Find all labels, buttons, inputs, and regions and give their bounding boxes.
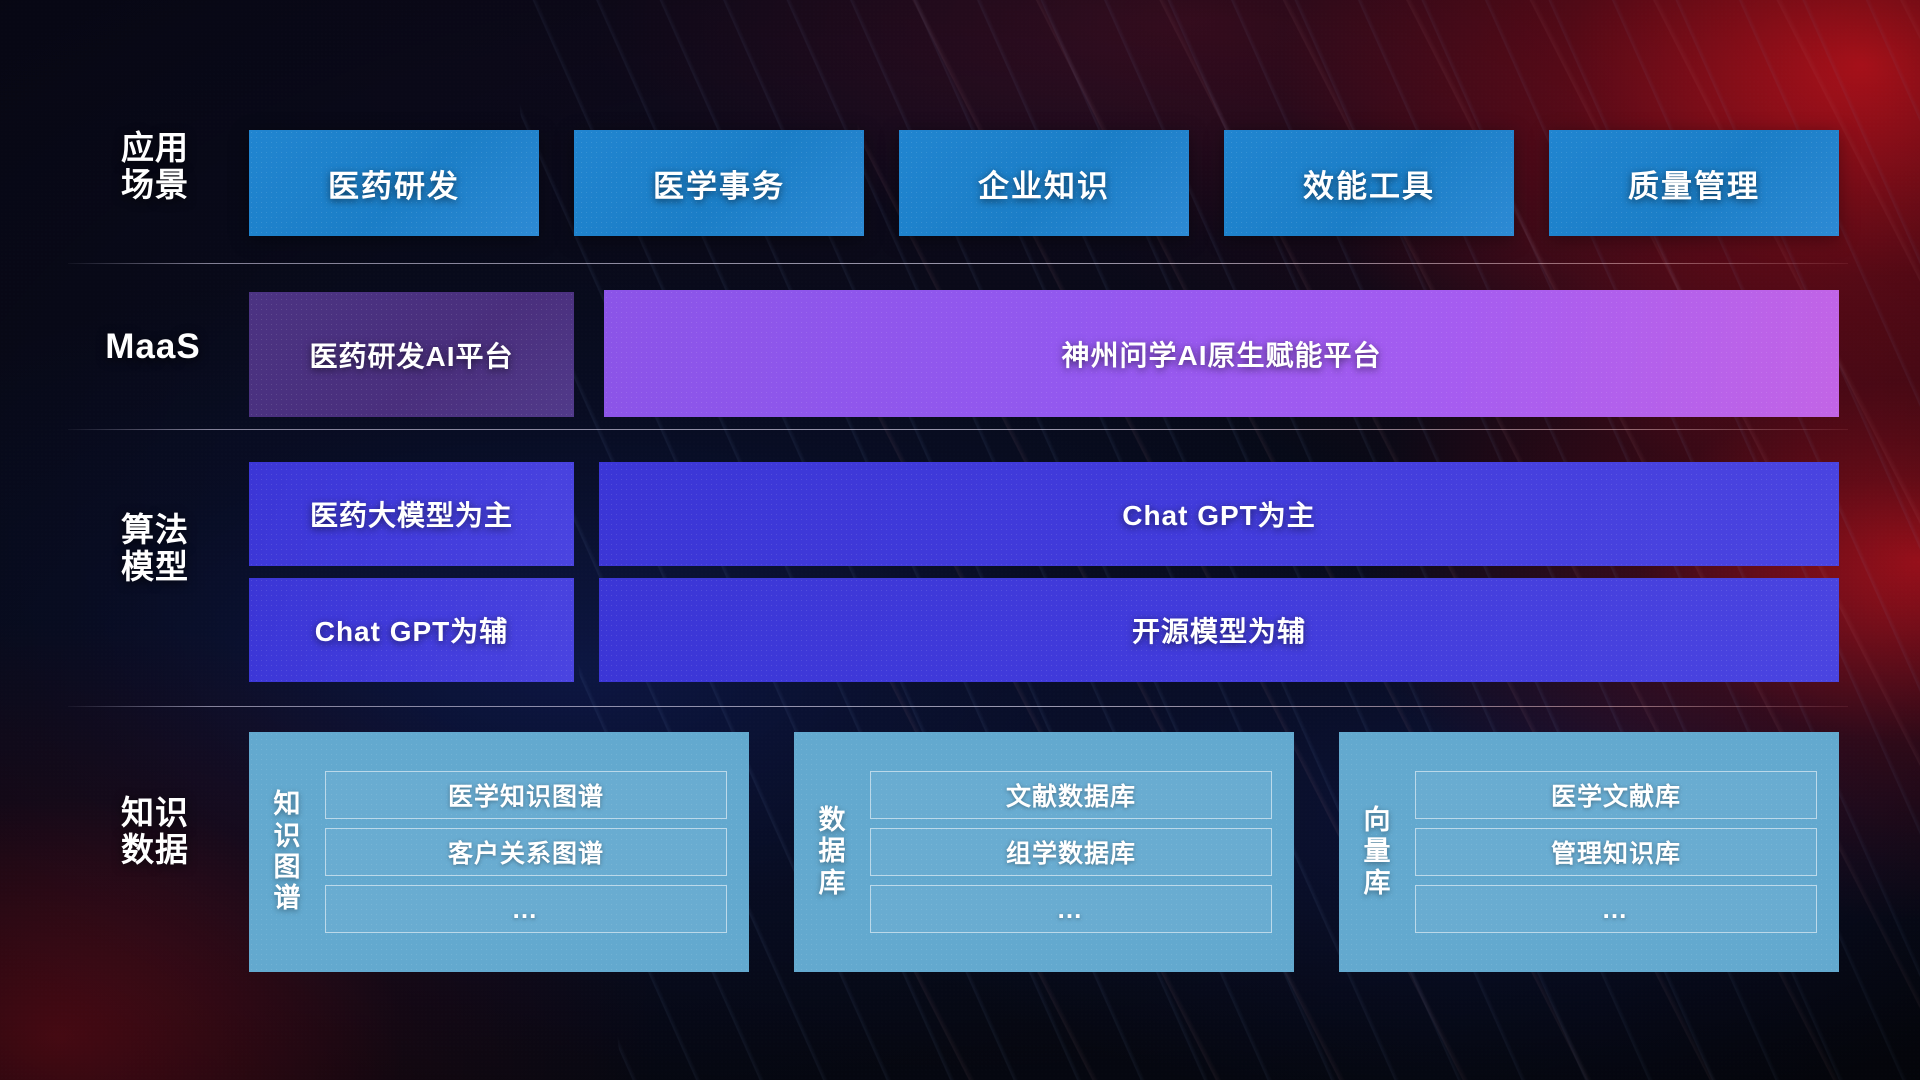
algorithm-label: 开源模型为辅 [1132,610,1306,650]
knowledge-item-list: 医学知识图谱 客户关系图谱 … [325,771,749,933]
knowledge-item[interactable]: 医学知识图谱 [325,771,727,819]
knowledge-group-2[interactable]: 向 量 库 医学文献库 管理知识库 … [1339,732,1839,972]
algorithm-label: Chat GPT为主 [1122,494,1316,534]
scenario-label: 医药研发 [328,161,460,206]
algorithm-card-row0-right[interactable]: Chat GPT为主 [599,462,1839,566]
knowledge-group-label: 数 据 库 [794,805,870,899]
algorithm-label: 医药大模型为主 [310,494,513,534]
knowledge-item-more[interactable]: … [870,885,1272,933]
divider-3 [68,706,1848,707]
algorithm-card-row1-left[interactable]: Chat GPT为辅 [249,578,574,682]
algorithm-label: Chat GPT为辅 [315,610,509,650]
architecture-diagram: 应用 场景 MaaS 算法 模型 知识 数据 医药研发 医学事务 企业知识 效能… [0,0,1920,1080]
scenario-card-4[interactable]: 质量管理 [1549,130,1839,236]
knowledge-group-label: 向 量 库 [1339,805,1415,899]
layer-label-application-scenario: 应用 场景 [90,130,220,204]
maas-platform-card-right[interactable]: 神州问学AI原生赋能平台 [604,290,1839,417]
knowledge-item[interactable]: 组学数据库 [870,828,1272,876]
knowledge-item-list: 文献数据库 组学数据库 … [870,771,1294,933]
scenario-card-0[interactable]: 医药研发 [249,130,539,236]
layer-label-knowledge-data: 知识 数据 [90,795,220,869]
algorithm-card-row1-right[interactable]: 开源模型为辅 [599,578,1839,682]
maas-right-label: 神州问学AI原生赋能平台 [1061,334,1381,374]
knowledge-item-list: 医学文献库 管理知识库 … [1415,771,1839,933]
knowledge-item-more[interactable]: … [1415,885,1817,933]
scenario-card-2[interactable]: 企业知识 [899,130,1189,236]
algorithm-card-row0-left[interactable]: 医药大模型为主 [249,462,574,566]
layer-label-maas: MaaS [78,327,228,366]
knowledge-group-1[interactable]: 数 据 库 文献数据库 组学数据库 … [794,732,1294,972]
divider-2 [68,429,1848,430]
knowledge-item[interactable]: 管理知识库 [1415,828,1817,876]
maas-left-label: 医药研发AI平台 [309,335,513,375]
knowledge-item-more[interactable]: … [325,885,727,933]
scenario-label: 效能工具 [1303,161,1435,206]
scenario-card-3[interactable]: 效能工具 [1224,130,1514,236]
knowledge-item[interactable]: 客户关系图谱 [325,828,727,876]
maas-platform-card-left[interactable]: 医药研发AI平台 [249,292,574,417]
scenario-label: 医学事务 [653,161,785,206]
divider-1 [68,263,1848,264]
scenario-card-1[interactable]: 医学事务 [574,130,864,236]
knowledge-item[interactable]: 文献数据库 [870,771,1272,819]
layer-label-algorithm-model: 算法 模型 [90,512,220,586]
knowledge-group-0[interactable]: 知 识 图 谱 医学知识图谱 客户关系图谱 … [249,732,749,972]
knowledge-item[interactable]: 医学文献库 [1415,771,1817,819]
scenario-label: 质量管理 [1628,161,1760,206]
knowledge-group-label: 知 识 图 谱 [249,789,325,914]
scenario-label: 企业知识 [978,161,1110,206]
